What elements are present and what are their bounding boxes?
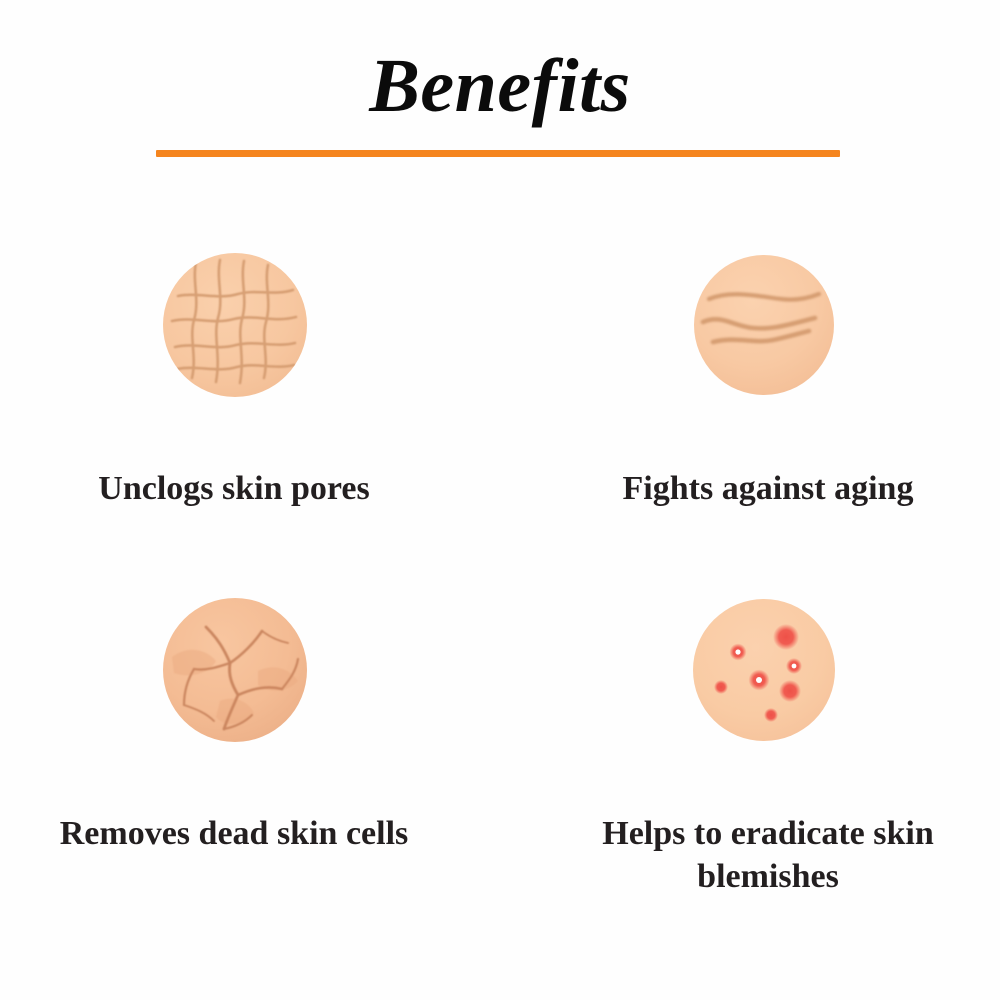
header: Benefits [0, 0, 1000, 170]
benefits-grid: Unclogs skin pores [0, 200, 1000, 980]
benefit-item-unclogs-skin-pores[interactable]: Unclogs skin pores [0, 200, 500, 545]
benefit-item-removes-dead-skin-cells[interactable]: Removes dead skin cells [0, 545, 500, 890]
skin-wrinkles-icon [691, 252, 837, 398]
page-title: Benefits [0, 48, 1000, 124]
skin-blemishes-icon [691, 597, 837, 743]
dry-cracked-skin-icon [162, 597, 308, 743]
benefit-label: Unclogs skin pores [14, 468, 454, 511]
benefit-label: Helps to eradicate skin blemishes [548, 813, 988, 898]
skin-pores-icon [162, 252, 308, 398]
benefit-item-fights-against-aging[interactable]: Fights against aging [500, 200, 1000, 545]
title-divider-rule [156, 150, 840, 157]
benefit-item-helps-to-eradicate-skin-blemishes[interactable]: Helps to eradicate skin blemishes [500, 545, 1000, 890]
benefits-infographic: Benefits [0, 0, 1000, 1000]
benefit-label: Removes dead skin cells [14, 813, 454, 856]
benefit-label: Fights against aging [548, 468, 988, 511]
